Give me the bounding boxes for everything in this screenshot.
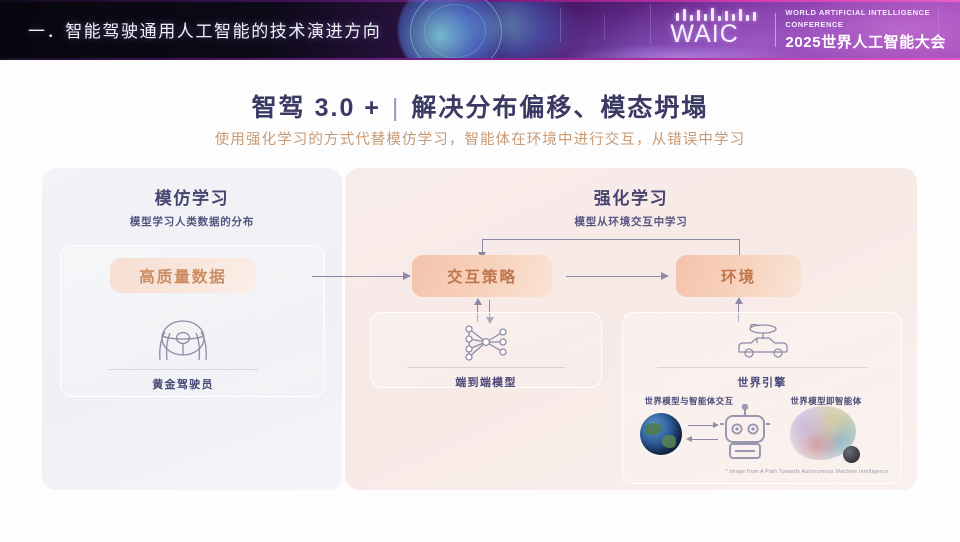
neural-network-icon: [456, 322, 516, 362]
arrow-policy-to-env-head: [661, 272, 669, 280]
slide-title-right: 解决分布偏移、模态坍塌: [411, 94, 708, 122]
autonomous-car-lidar-icon: [729, 322, 795, 362]
reinforcement-subheading: 模型从环境交互中学习: [345, 214, 917, 229]
feedback-loop-right-riser: [739, 239, 740, 256]
robot-icon: [718, 404, 772, 462]
icon-divider: [108, 369, 258, 370]
slide-root: 一．智能驾驶通用人工智能的技术演进方向 WAIC WORLD ARTIFICIA…: [0, 0, 960, 542]
golden-driver-caption: 黄金驾驶员: [98, 376, 268, 392]
golden-driver-block: 黄金驾驶员: [98, 318, 268, 392]
reinforcement-heading: 强化学习: [345, 184, 917, 209]
arrow-robot-to-earth-line: [692, 439, 718, 440]
arrow-robot-to-earth-head: [686, 436, 692, 442]
logo-chinese-name: 2025世界人工智能大会: [785, 31, 946, 52]
imitation-heading-block: 模仿学习 模型学习人类数据的分布: [42, 184, 342, 229]
light-streak: [650, 4, 651, 44]
pill-high-quality-data[interactable]: 高质量数据: [110, 258, 256, 293]
waic-logo: WAIC WORLD ARTIFICIAL INTELLIGENCE CONFE…: [670, 8, 946, 52]
logo-divider: [775, 13, 776, 47]
earth-globe-icon: [640, 413, 682, 455]
feedback-loop-top-bar: [482, 239, 740, 240]
arrow-policy-to-env-line: [566, 276, 662, 277]
arrow-e2e-up-head: [474, 298, 482, 305]
slide-subtitle: 使用强化学习的方式代替模仿学习，智能体在环境中进行交互，从错误中学习: [0, 128, 960, 149]
slide-title-left: 智驾 3.0 +: [252, 94, 381, 122]
logo-english-line2: CONFERENCE: [785, 20, 946, 30]
steering-wheel-icon: [147, 318, 219, 364]
header-banner: 一．智能驾驶通用人工智能的技术演进方向 WAIC WORLD ARTIFICIA…: [0, 0, 960, 60]
pill-interaction-policy[interactable]: 交互策略: [412, 255, 552, 297]
arrow-world-to-env-head: [735, 297, 743, 304]
world-engine-block: 世界引擎: [648, 322, 876, 390]
arrow-earth-to-robot-line: [688, 425, 714, 426]
page-title: 一．智能驾驶通用人工智能的技术演进方向: [28, 17, 381, 42]
imitation-subheading: 模型学习人类数据的分布: [42, 214, 342, 229]
banner-bottom-accent-line: [0, 58, 960, 60]
waic-wordmark-group: WAIC: [670, 8, 766, 52]
cosmic-sphere-inner-ring: [424, 4, 486, 58]
slide-title-divider: |: [392, 94, 401, 122]
world-engine-caption: 世界引擎: [648, 374, 876, 390]
logo-english-line1: WORLD ARTIFICIAL INTELLIGENCE: [785, 8, 946, 18]
feedback-loop-left-drop: [482, 239, 483, 253]
image-source-footnote: * Image from A Path Towards Autonomous M…: [712, 469, 902, 475]
end-to-end-model-caption: 端到端模型: [400, 374, 572, 390]
icon-divider: [407, 367, 565, 368]
pill-environment[interactable]: 环境: [676, 255, 801, 297]
arrow-data-to-policy-line: [312, 276, 404, 277]
slide-main-title: 智驾 3.0 + | 解决分布偏移、模态坍塌: [0, 88, 960, 124]
imitation-heading: 模仿学习: [42, 184, 342, 209]
reinforcement-heading-block: 强化学习 模型从环境交互中学习: [345, 184, 917, 229]
arrow-data-to-policy-head: [403, 272, 411, 280]
light-streak: [604, 14, 605, 40]
logo-text-block: WORLD ARTIFICIAL INTELLIGENCE CONFERENCE…: [785, 8, 946, 52]
light-streak: [560, 8, 561, 42]
icon-divider: [657, 367, 867, 368]
waic-wordmark-text: WAIC: [670, 20, 738, 49]
end-to-end-model-block: 端到端模型: [400, 322, 572, 390]
brain-satellite-dot-icon: [843, 446, 860, 463]
